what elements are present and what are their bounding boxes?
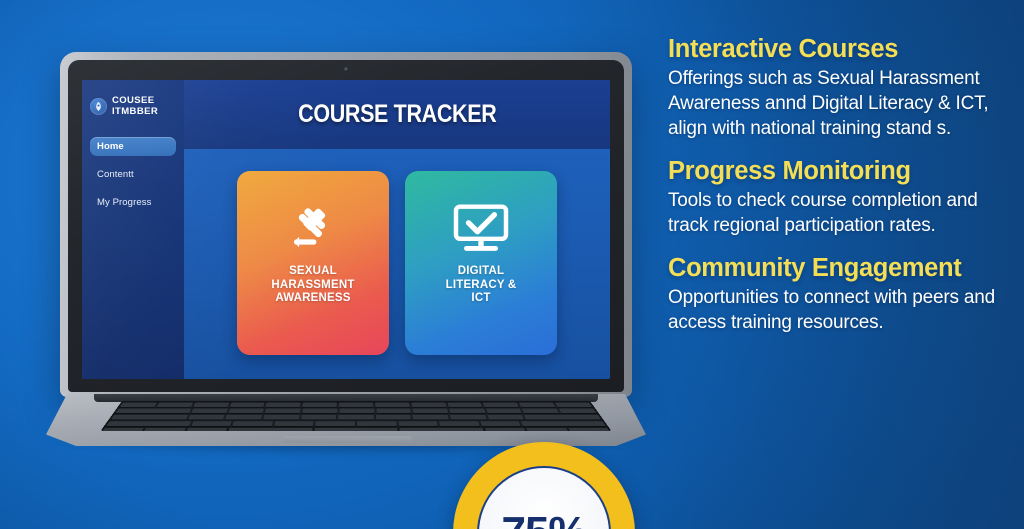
app-sidebar: COUSEEITMBBER Home Contentt My Progress xyxy=(82,80,184,379)
app-header: COURSE TRACKER xyxy=(184,80,610,149)
laptop-keyboard xyxy=(101,401,612,431)
sidebar-item-home[interactable]: Home xyxy=(90,137,176,156)
course-card-label: SEXUALHARASSMENTAWARENESS xyxy=(271,265,354,306)
progress-badge-inner: 75% xyxy=(477,466,611,529)
brand-name: COUSEEITMBBER xyxy=(112,96,158,117)
course-card-digital-literacy-ict[interactable]: DIGITALLITERACY &ICT xyxy=(405,171,557,355)
feature-block-community-engagement: Community Engagement Opportunities to co… xyxy=(668,253,1008,335)
monitor-check-icon xyxy=(452,193,510,265)
feature-copy-column: Interactive Courses Offerings such as Se… xyxy=(668,34,1008,335)
laptop-trackpad xyxy=(282,436,412,443)
laptop-bezel: COUSEEITMBBER Home Contentt My Progress … xyxy=(68,60,624,392)
brand-logo: COUSEEITMBBER xyxy=(90,96,176,117)
sidebar-item-label: My Progress xyxy=(97,197,151,208)
gavel-icon xyxy=(285,193,341,265)
rocket-badge-icon xyxy=(90,98,107,115)
course-card-grid: SEXUALHARASSMENTAWARENESS xyxy=(184,149,610,379)
feature-heading: Progress Monitoring xyxy=(668,156,1008,186)
sidebar-item-label: Home xyxy=(97,141,124,152)
feature-block-progress-monitoring: Progress Monitoring Tools to check cours… xyxy=(668,156,1008,238)
page-title: COURSE TRACKER xyxy=(298,100,496,129)
laptop-lid: COUSEEITMBBER Home Contentt My Progress … xyxy=(60,52,632,397)
sidebar-item-my-progress[interactable]: My Progress xyxy=(90,193,176,212)
webcam-icon xyxy=(344,67,349,72)
feature-body: Offerings such as Sexual Harassment Awar… xyxy=(668,66,1008,141)
progress-percentage: 75% xyxy=(501,511,586,529)
feature-body: Opportunities to connect with peers and … xyxy=(668,285,1008,335)
feature-heading: Interactive Courses xyxy=(668,34,1008,64)
sidebar-item-label: Contentt xyxy=(97,169,134,180)
feature-heading: Community Engagement xyxy=(668,253,1008,283)
course-card-label: DIGITALLITERACY &ICT xyxy=(446,265,517,306)
sidebar-item-content[interactable]: Contentt xyxy=(90,165,176,184)
laptop-deck xyxy=(46,394,646,446)
app-main-pane: COURSE TRACKER xyxy=(184,80,610,379)
course-card-sexual-harassment-awareness[interactable]: SEXUALHARASSMENTAWARENESS xyxy=(237,171,389,355)
feature-block-interactive-courses: Interactive Courses Offerings such as Se… xyxy=(668,34,1008,141)
laptop-screen: COUSEEITMBBER Home Contentt My Progress … xyxy=(82,80,610,379)
feature-body: Tools to check course completion and tra… xyxy=(668,188,1008,238)
